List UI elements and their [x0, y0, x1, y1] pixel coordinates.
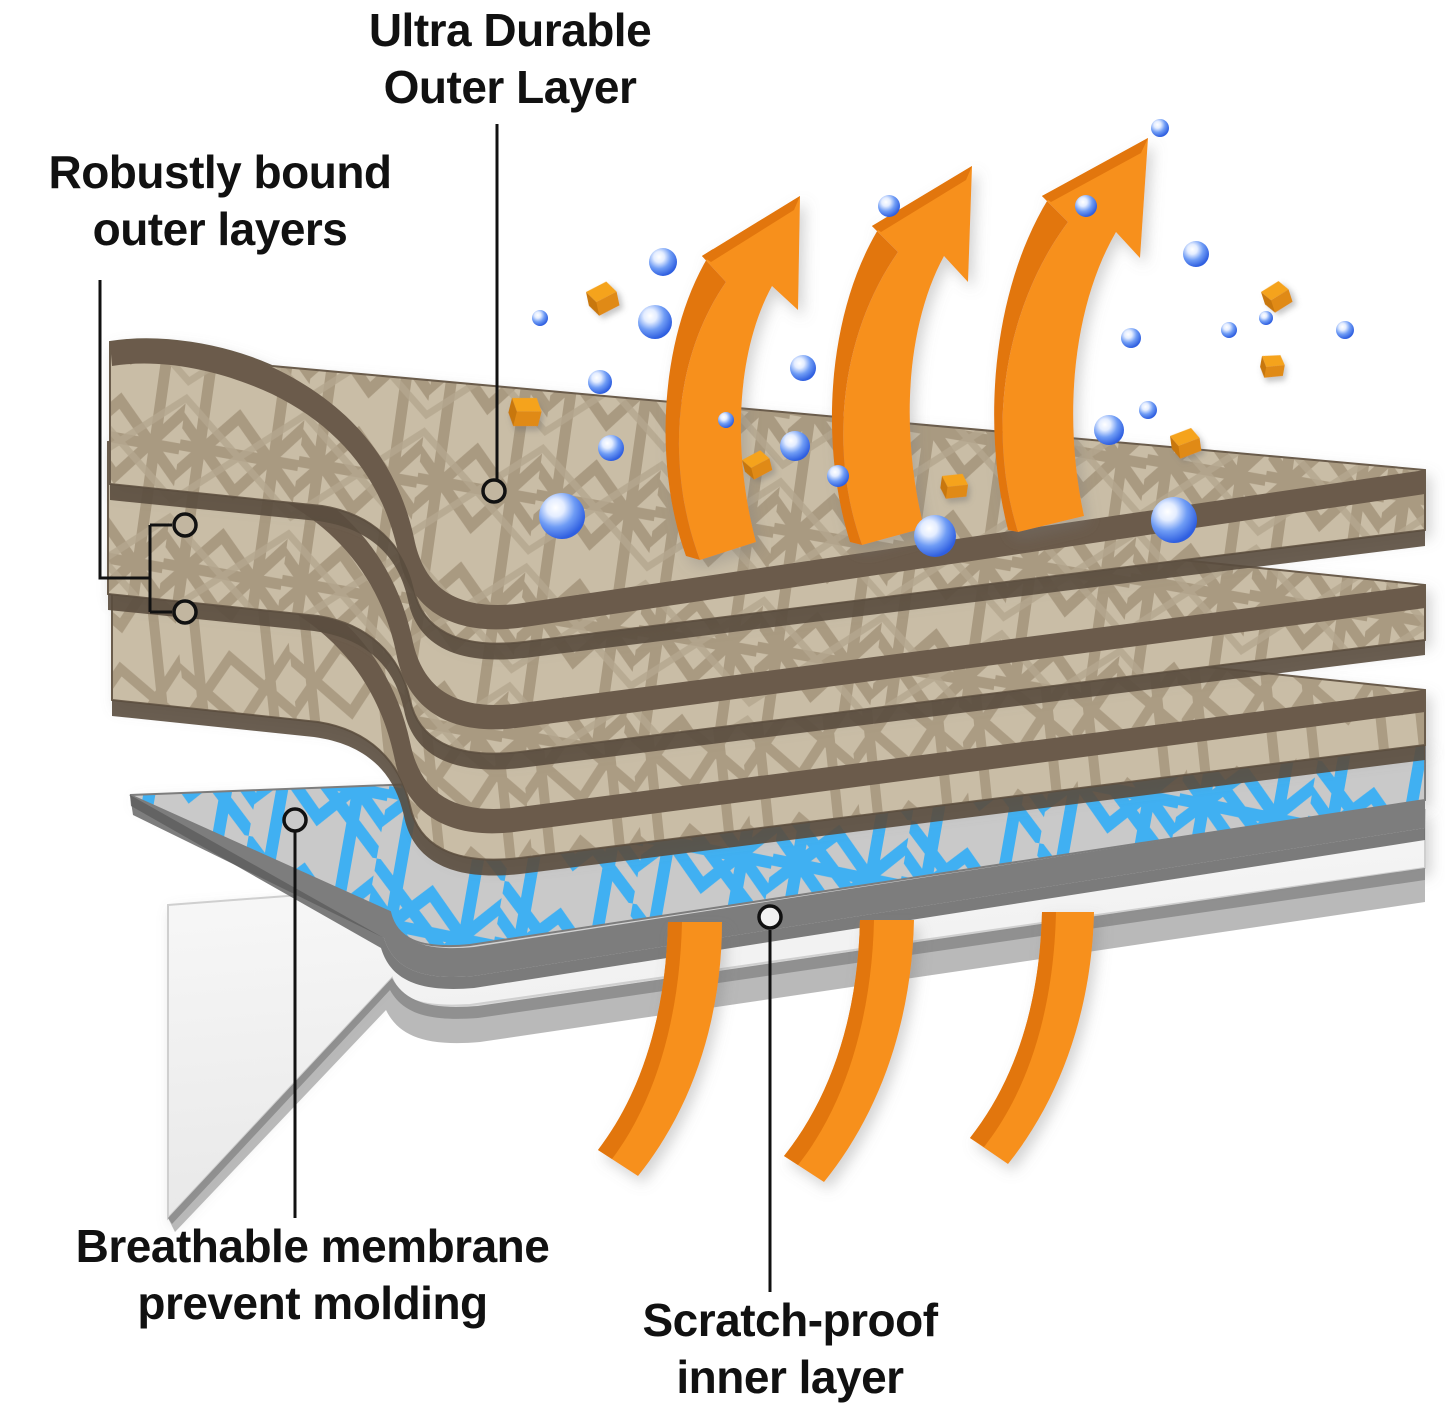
up-arrows-group — [666, 138, 1148, 560]
diagram-canvas: Ultra Durable Outer Layer Robustly bound… — [0, 0, 1445, 1421]
label-robustly-bound-outer-layers: Robustly bound outer layers — [0, 144, 440, 258]
label-scratch-proof-inner-layer: Scratch-proof inner layer — [580, 1292, 1000, 1406]
callout-dot-membrane — [284, 809, 306, 831]
callout-dot-outer-top — [483, 480, 505, 502]
callout-dot-inner — [759, 906, 781, 928]
label-breathable-membrane: Breathable membrane prevent molding — [0, 1218, 625, 1332]
debris-cube — [585, 280, 621, 318]
debris-cube — [1259, 279, 1294, 315]
debris-cube — [1258, 352, 1286, 381]
callout-dot-bound-lower — [174, 601, 196, 623]
callout-dot-bound-upper — [174, 514, 196, 536]
label-ultra-durable-outer-layer: Ultra Durable Outer Layer — [300, 2, 720, 116]
